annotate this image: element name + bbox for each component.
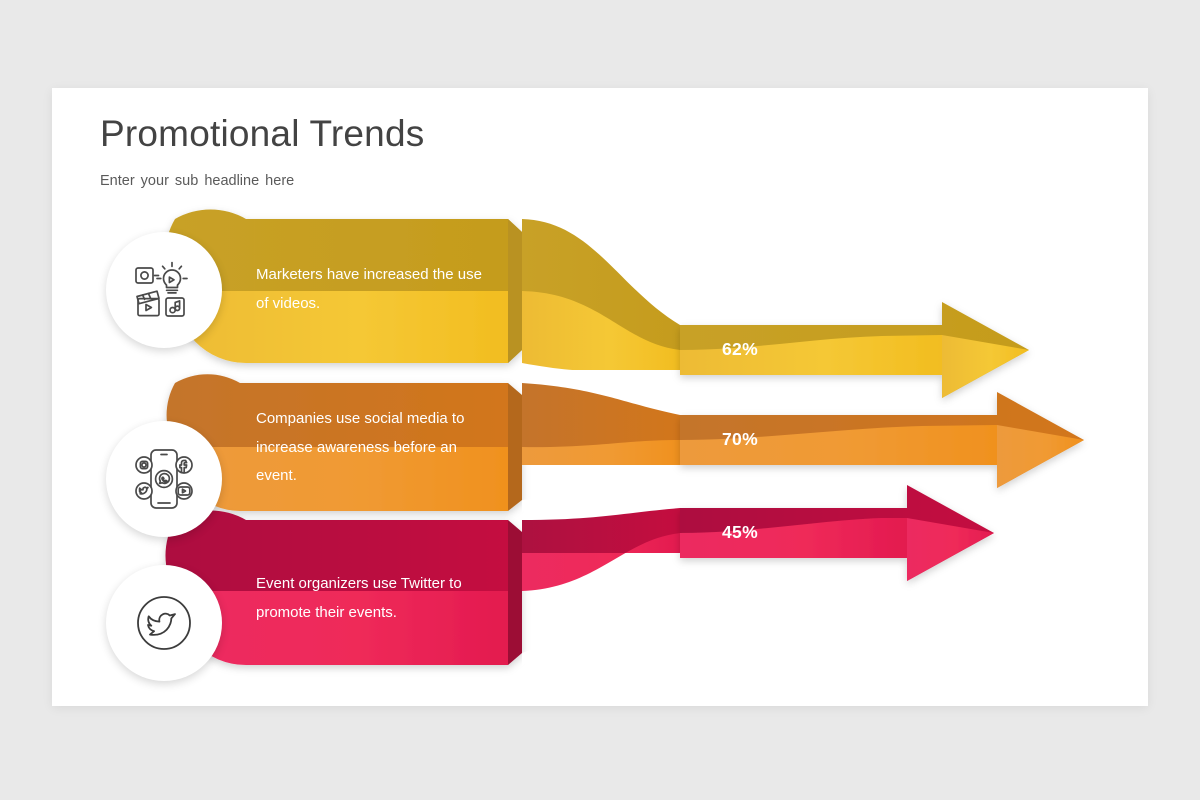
funnel-taper-3 [522, 508, 680, 666]
icon-disc-1 [106, 232, 222, 348]
icon-disc-2 [106, 421, 222, 537]
social-media-phone-icon [128, 443, 200, 515]
twitter-bird-icon [128, 587, 200, 659]
percent-label-3: 45% [722, 522, 758, 543]
percent-label-2: 70% [722, 429, 758, 450]
icon-disc-3 [106, 565, 222, 681]
funnel-taper-1 [522, 219, 680, 378]
percent-label-1: 62% [722, 339, 758, 360]
funnel-taper-2 [522, 383, 680, 512]
row-description-3: Event organizers use Twitter to promote … [256, 570, 496, 627]
row-description-2: Companies use social media to increase a… [256, 405, 496, 491]
slide-card: Promotional Trends Enter your sub headli… [52, 88, 1148, 706]
video-marketing-icon [128, 254, 200, 326]
row-description-1: Marketers have increased the use of vide… [256, 261, 496, 318]
